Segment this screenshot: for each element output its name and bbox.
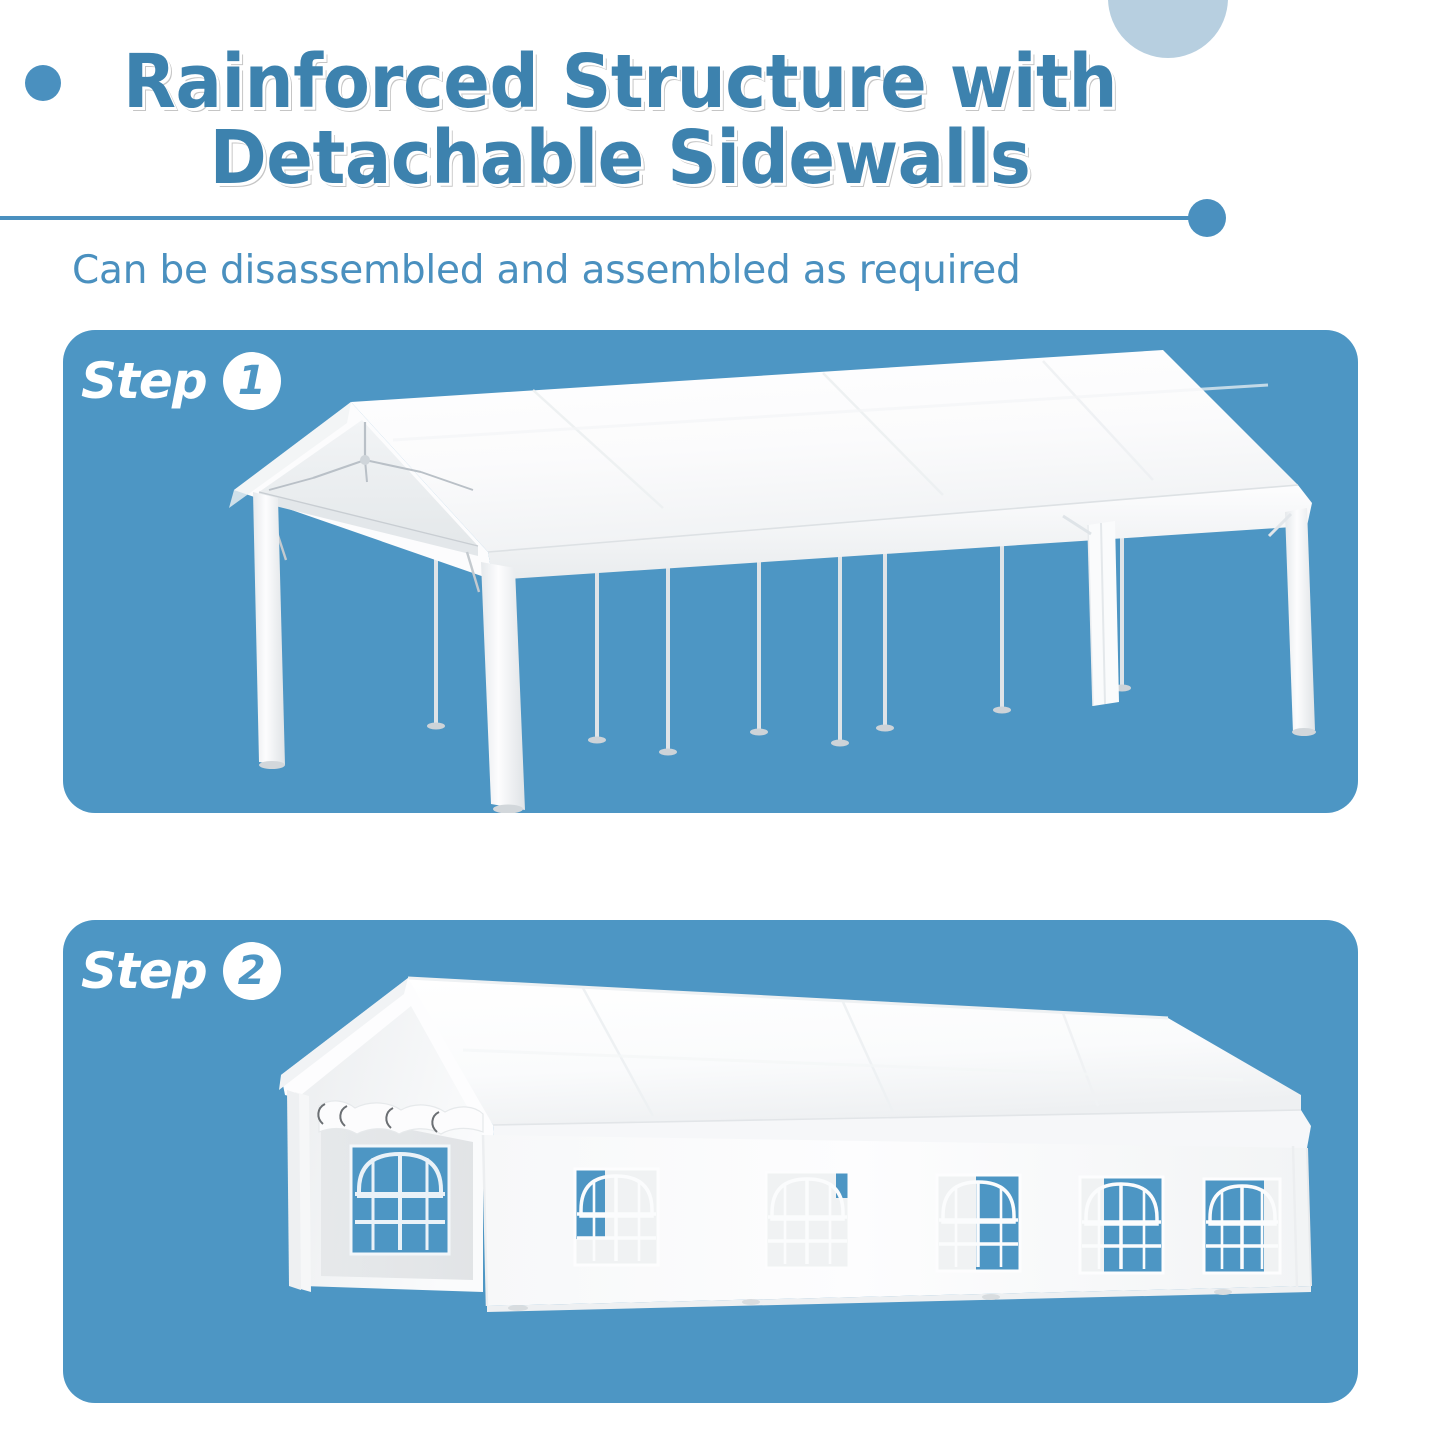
tent-with-sidewalls-illustration (63, 920, 1358, 1403)
tent-frame-illustration (63, 330, 1358, 813)
ground-anchor (508, 1305, 528, 1311)
header-divider-line (0, 216, 1205, 220)
side-window-2 (766, 1172, 849, 1268)
side-window-1 (575, 1169, 658, 1265)
side-window-4 (1080, 1177, 1163, 1273)
side-window-3 (937, 1175, 1020, 1271)
page-title: Rainforced Structure with Detachable Sid… (43, 44, 1196, 196)
leg-front-left (253, 492, 285, 765)
ground-anchor (982, 1294, 1000, 1300)
step-2-panel: Step 2 (63, 920, 1358, 1403)
side-window-5 (1204, 1179, 1280, 1273)
leg-front-right (1285, 508, 1315, 733)
step-1-panel: Step 1 (63, 330, 1358, 813)
page-subtitle: Can be disassembled and assembled as req… (72, 248, 1021, 293)
infographic-page: Rainforced Structure with Detachable Sid… (0, 0, 1445, 1445)
ground-anchor (1214, 1289, 1232, 1295)
ground-anchor (742, 1299, 760, 1305)
leg-front-center (481, 562, 525, 810)
gable-window (351, 1146, 449, 1254)
decorative-dot-line-end (1188, 199, 1226, 237)
